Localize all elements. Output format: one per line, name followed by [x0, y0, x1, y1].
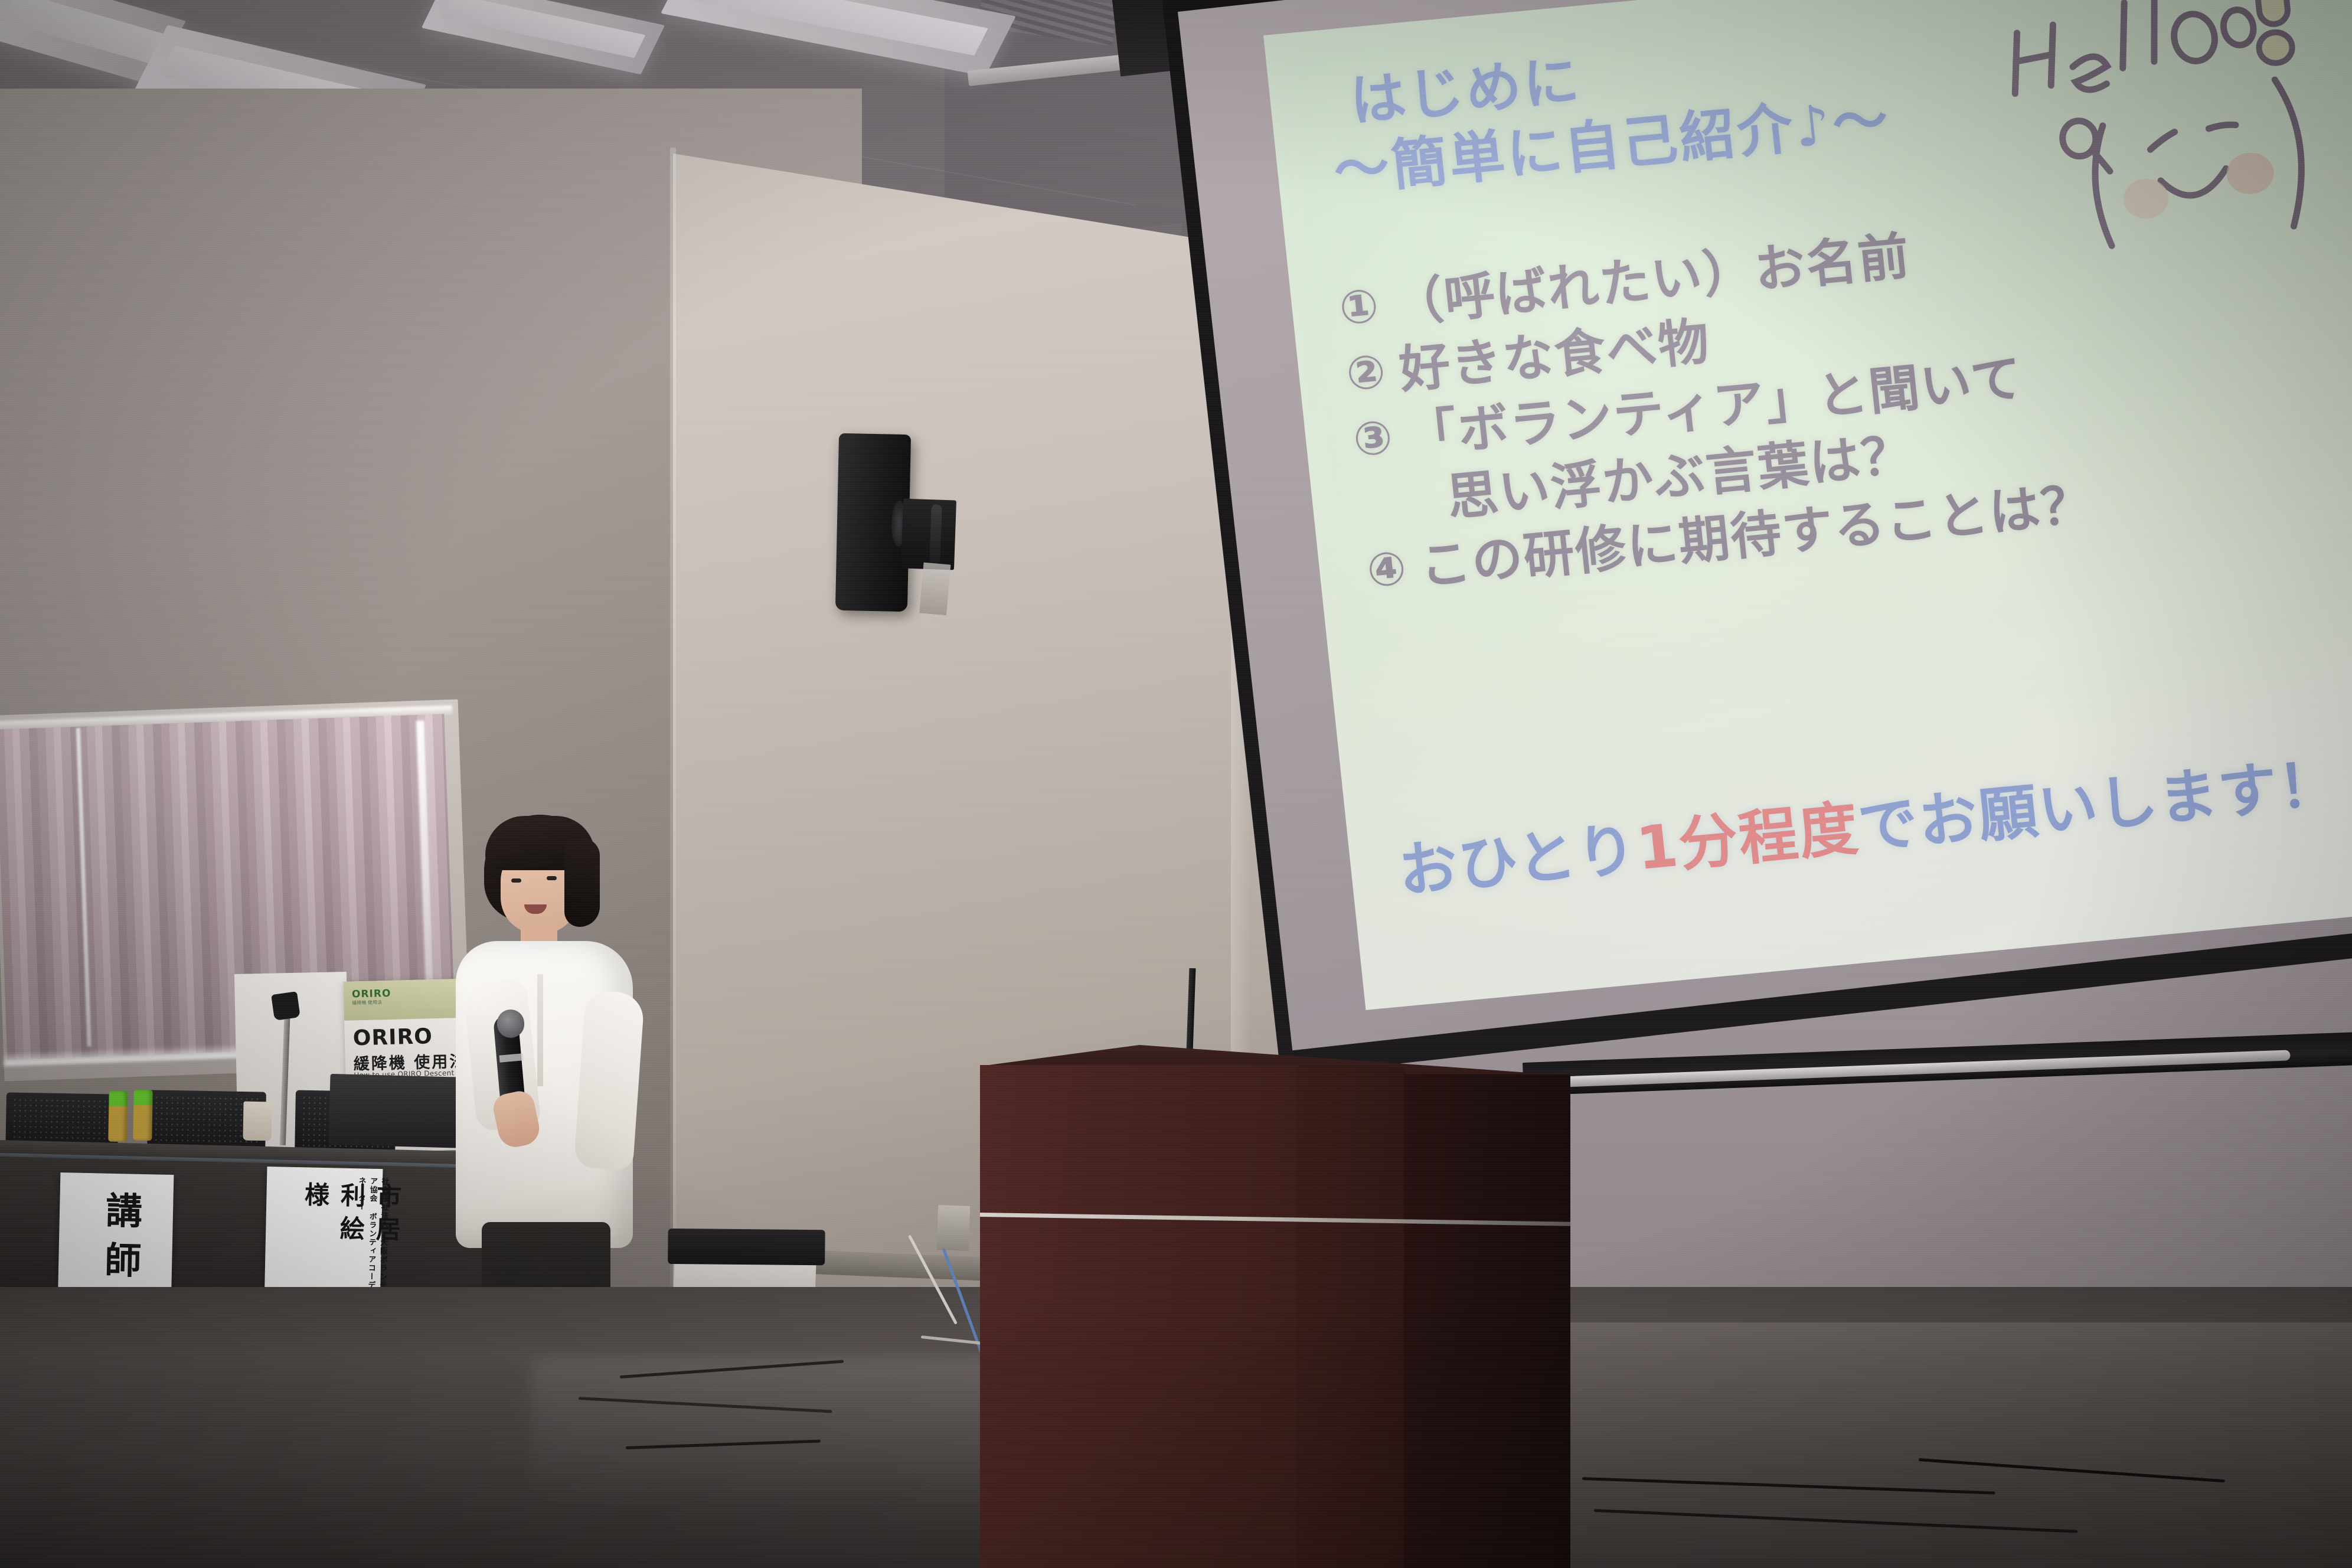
slide-title: はじめに ～簡単に自己紹介♪～	[1347, 19, 1894, 204]
bullet-number: ③	[1350, 405, 1397, 473]
lecturer-placard-label: 講師	[92, 1191, 148, 1297]
lectern-podium	[980, 1045, 1570, 1568]
beverage-bottle	[108, 1091, 128, 1142]
guest-org-title: 社会福祉法人 大阪ボランティア協会 ボランティアコーディネーター	[353, 1177, 390, 1304]
bullet-number: ①	[1337, 274, 1383, 342]
oriro-brand: ORIRO	[352, 1024, 433, 1050]
footer-highlight: 1分程度	[1633, 793, 1862, 883]
wall-power-outlet[interactable]	[937, 1205, 971, 1251]
microphone-icon	[271, 991, 300, 1021]
footer-before: おひとり	[1395, 815, 1640, 906]
projected-slide: はじめに ～簡単に自己紹介♪～	[1263, 0, 2352, 1010]
floor-right-section	[1511, 1322, 2352, 1568]
bullet-number: ④	[1364, 537, 1410, 605]
wall-speaker-icon	[835, 433, 911, 612]
oriro-small-logo: ORIRO	[352, 988, 391, 1001]
slide-bullet-list: ① （呼ばれたい）お名前 ② 好きな食べ物 ③ 「ボランティア」と聞いて 思い浮…	[1337, 183, 2352, 606]
speaker-mount-bracket	[901, 498, 956, 570]
wall-corner-edge	[670, 148, 676, 1305]
beverage-bottle	[133, 1090, 152, 1141]
bullet-number: ②	[1343, 339, 1390, 407]
slide-footer-note: おひとり1分程度でお願いします！	[1394, 727, 2352, 909]
photo-scene: はじめに ～簡単に自己紹介♪～	[0, 0, 2352, 1568]
footer-after: でお願いします！	[1855, 749, 2342, 863]
paper-cup	[243, 1102, 272, 1141]
